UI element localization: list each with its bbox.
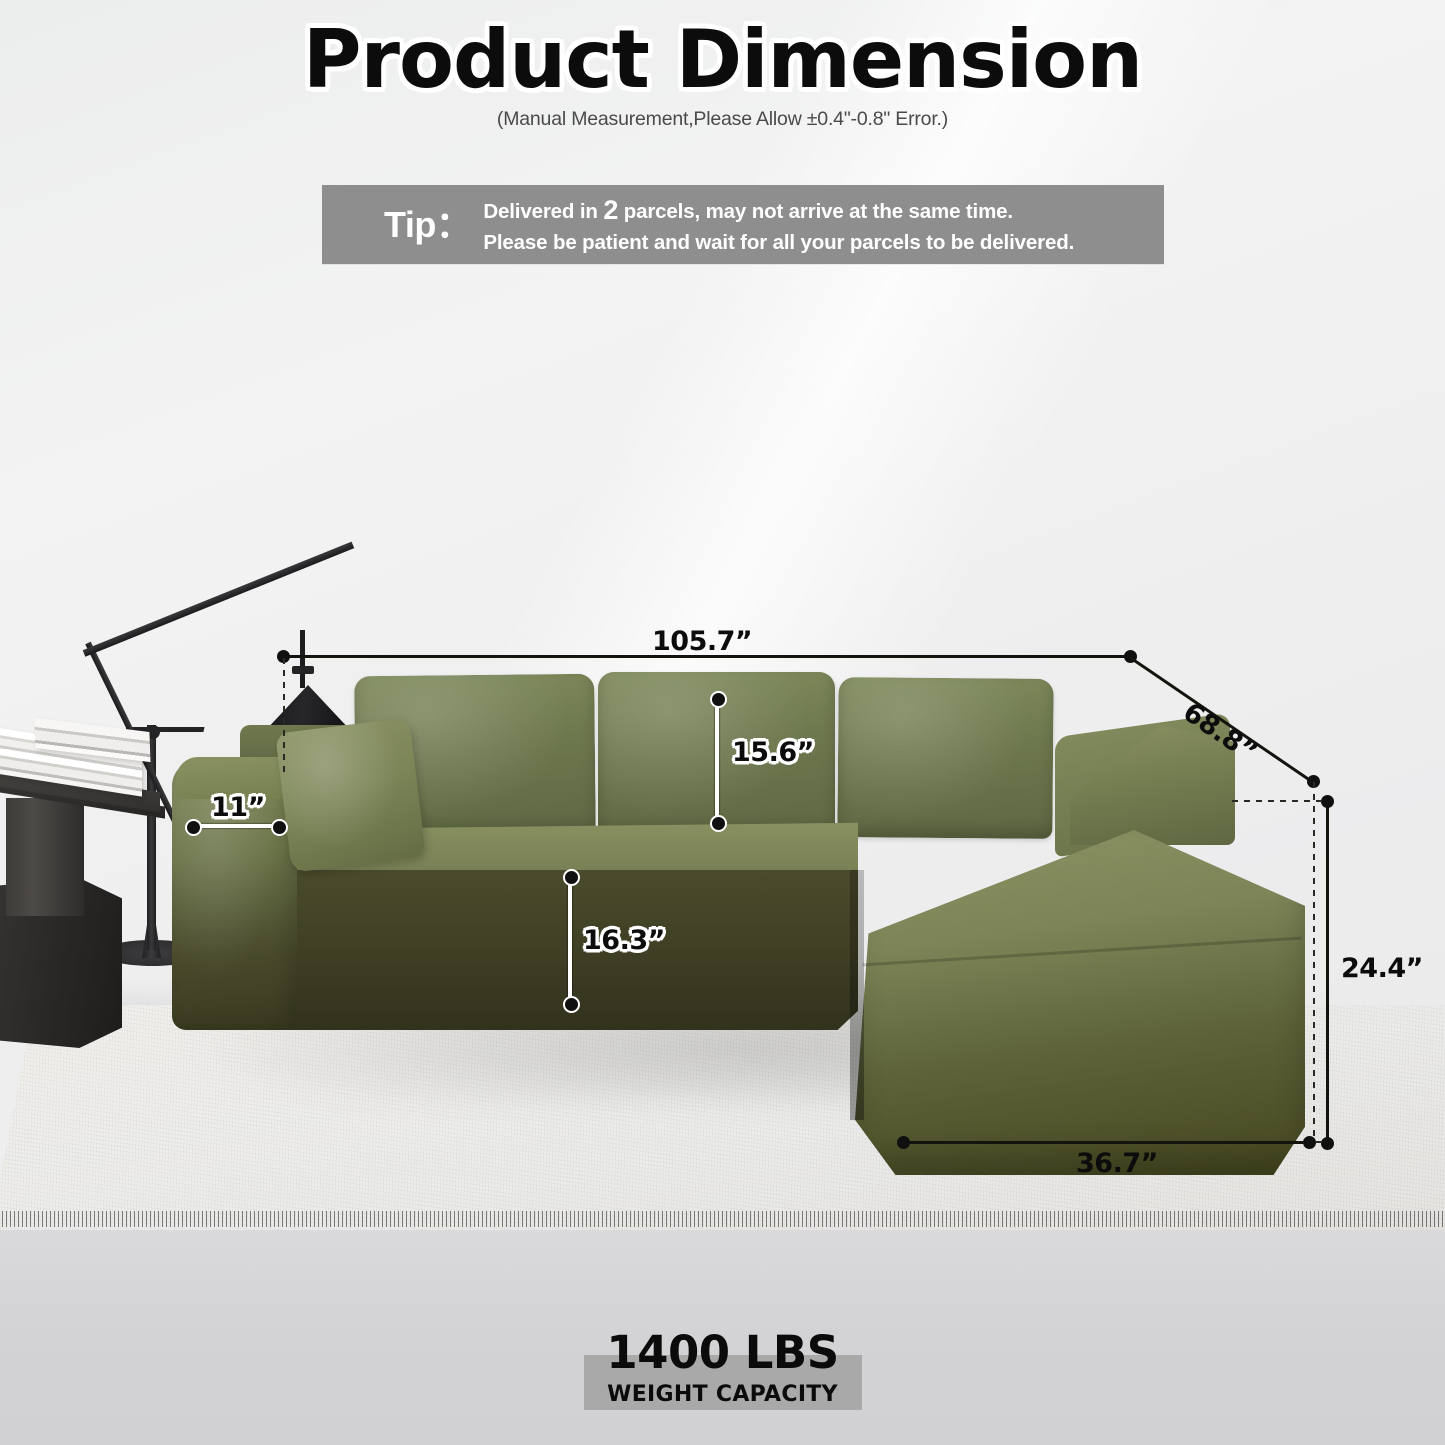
arm-width-endpoint-right (271, 819, 288, 836)
tip-banner: Tip： Delivered in 2 parcels, may not arr… (322, 185, 1164, 264)
chaise-width-endpoint-right (1303, 1136, 1316, 1149)
tip-line-1: Delivered in 2 parcels, may not arrive a… (483, 193, 1074, 229)
tip-label: Tip： (384, 207, 471, 243)
seat-height-endpoint-bottom (563, 996, 580, 1013)
header: Product Dimension (Manual Measurement,Pl… (0, 18, 1445, 131)
seat-height-dimension-label: 16.3” (583, 925, 665, 956)
arm-width-dimension-line (193, 824, 279, 828)
chaise-width-endpoint-left (897, 1136, 910, 1149)
seat-height-endpoint-top (563, 869, 580, 886)
weight-capacity-badge: 1400 LBS WEIGHT CAPACITY (0, 1330, 1445, 1406)
chaise-width-dimension-label: 36.7” (1076, 1148, 1158, 1179)
width-dimension-label: 105.7” (652, 626, 752, 657)
back-height-endpoint-bottom (710, 815, 727, 832)
accent-pillow (275, 717, 426, 872)
chaise-height-dimension-line (1326, 802, 1329, 1144)
back-cushion (837, 677, 1053, 839)
chaise-width-dimension-line (903, 1141, 1309, 1144)
measurement-disclaimer: (Manual Measurement,Please Allow ±0.4"-0… (0, 108, 1445, 131)
chaise-height-leader-top (1232, 800, 1327, 802)
parcel-count: 2 (603, 195, 618, 225)
seat-height-dimension-line (568, 878, 572, 1003)
page-title: Product Dimension (0, 18, 1445, 102)
tip-line-2: Please be patient and wait for all your … (483, 229, 1074, 256)
back-height-dimension-label: 15.6” (732, 737, 814, 768)
tip-line-1-after: parcels, may not arrive at the same time… (618, 200, 1013, 223)
arm-width-endpoint-left (185, 819, 202, 836)
width-leader-left (283, 658, 285, 776)
tip-text: Delivered in 2 parcels, may not arrive a… (483, 193, 1074, 256)
back-height-endpoint-top (710, 691, 727, 708)
chaise-height-leader (1313, 782, 1315, 1144)
weight-capacity-caption: WEIGHT CAPACITY (0, 1384, 1445, 1406)
tip-line-1-before: Delivered in (483, 200, 603, 223)
chaise-seat (855, 830, 1305, 1175)
weight-capacity-value: 1400 LBS (0, 1330, 1445, 1375)
product-dimension-infographic: Product Dimension (Manual Measurement,Pl… (0, 0, 1445, 1445)
chaise-height-endpoint-bottom (1321, 1137, 1334, 1150)
back-height-dimension-line (715, 700, 719, 822)
arm-width-dimension-label: 11” (211, 792, 265, 823)
room-scene-photo (0, 270, 1445, 1270)
chaise-height-dimension-label: 24.4” (1341, 953, 1423, 984)
sofa-section-gap (850, 870, 864, 1120)
sectional-sofa (0, 270, 1445, 1270)
